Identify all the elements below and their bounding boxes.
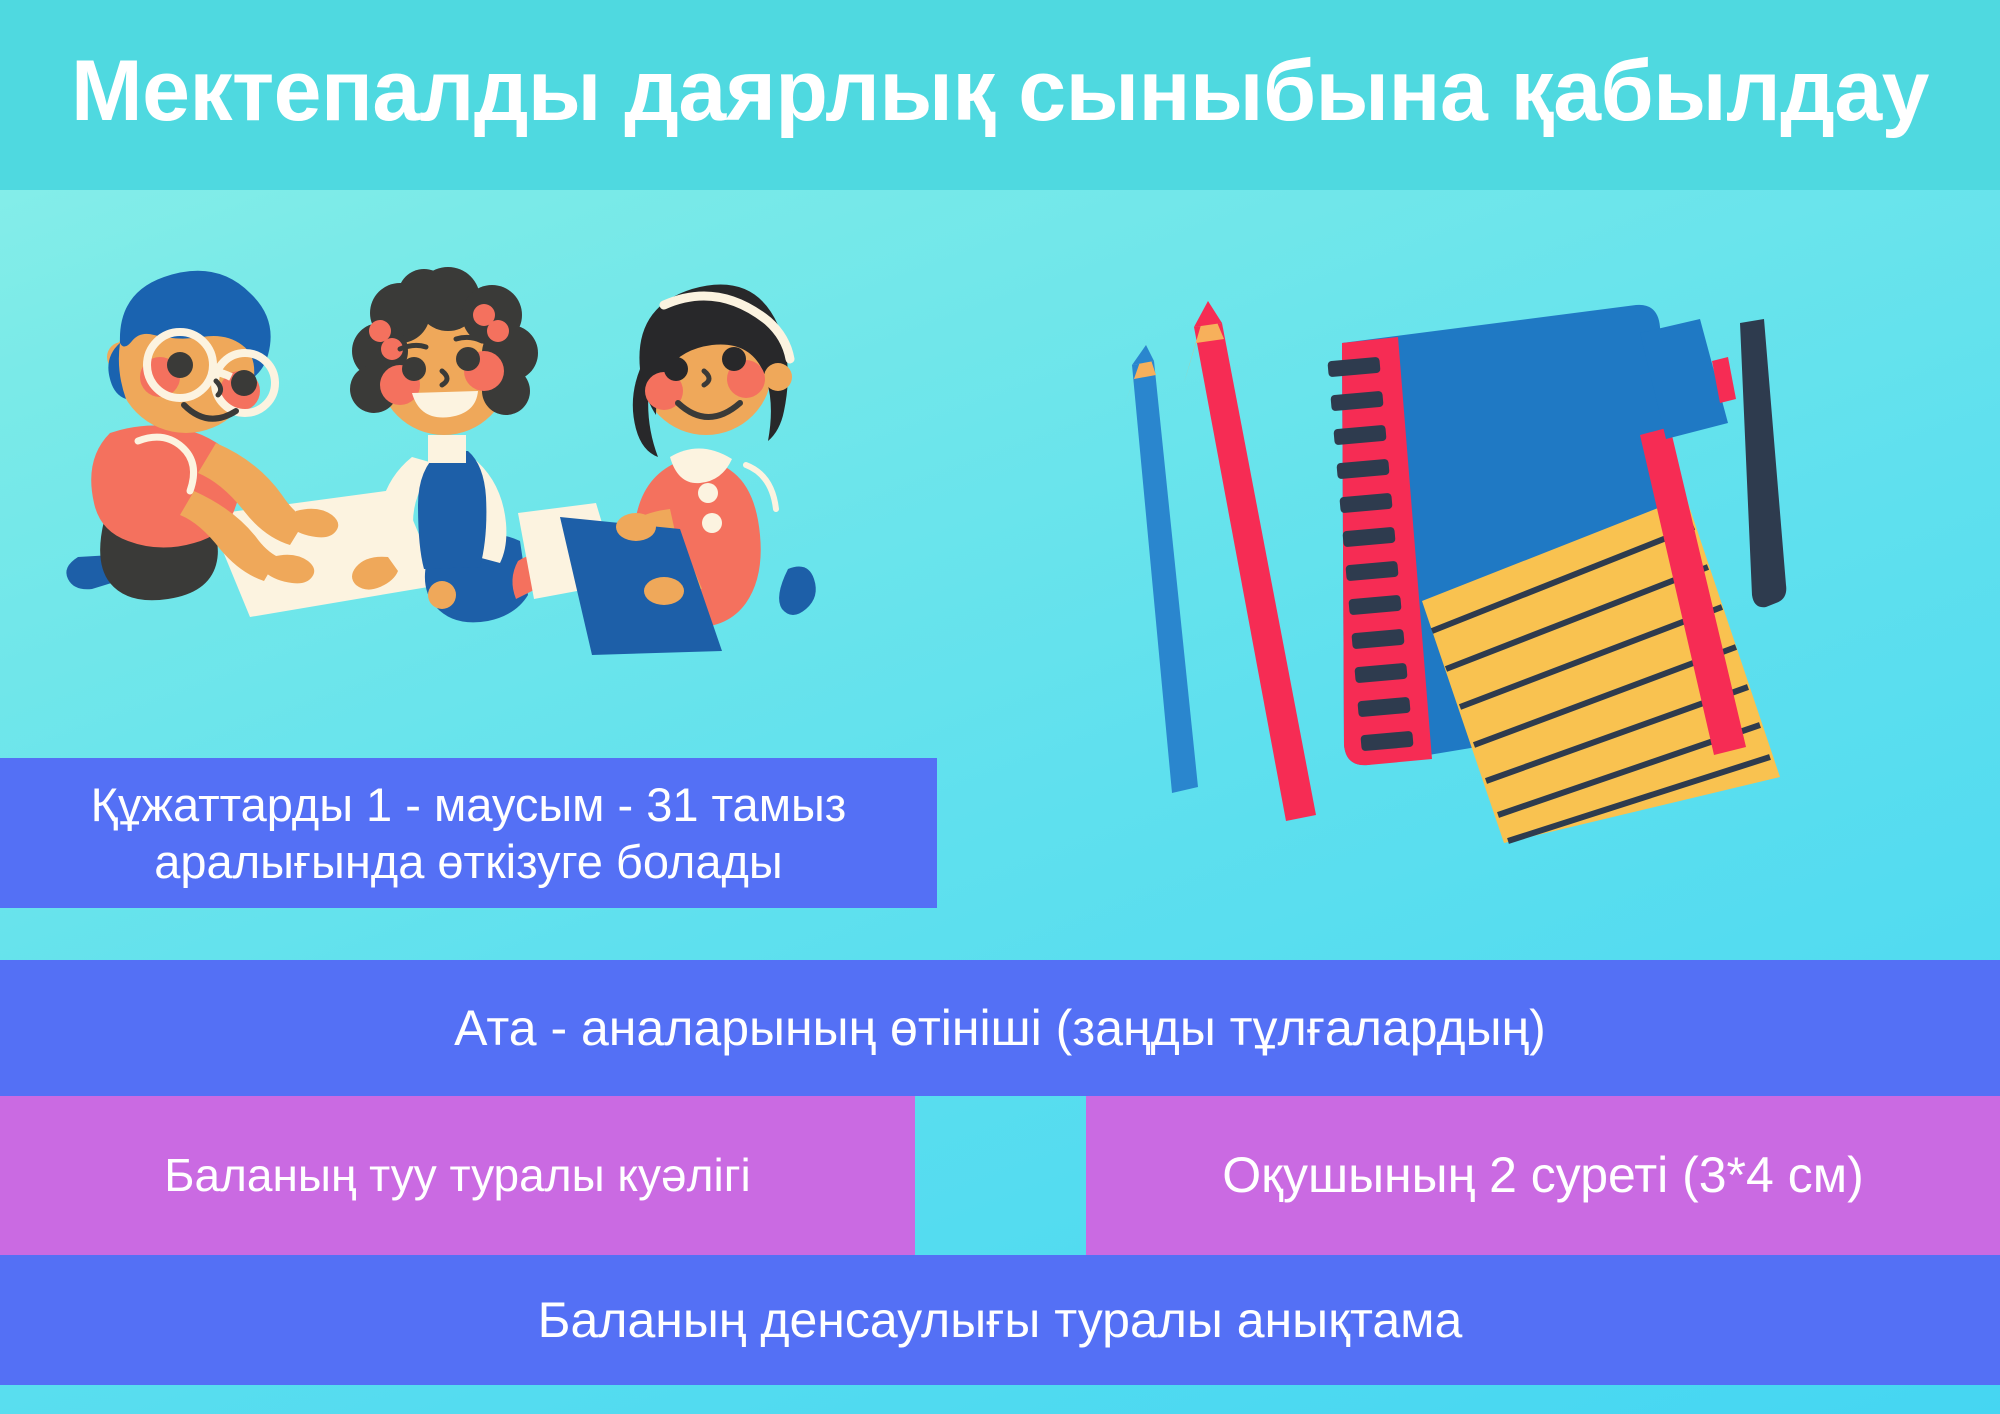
girl-button-top-icon bbox=[698, 483, 718, 503]
girl-eye-right-icon bbox=[722, 347, 746, 371]
dates-text: Құжаттарды 1 - маусым - 31 тамыз аралығы… bbox=[0, 776, 937, 891]
birth-certificate-box: Баланың туу туралы куәлігі bbox=[0, 1096, 915, 1255]
three-children-illustration bbox=[40, 265, 900, 715]
girl-button-bottom-icon bbox=[702, 513, 722, 533]
girl-hand-bottom-icon bbox=[644, 577, 684, 605]
page-title: Мектепалды даярлық сыныбына қабылдау bbox=[71, 48, 1929, 142]
photos-box: Оқушының 2 суреті (3*4 см) bbox=[1086, 1096, 2000, 1255]
infographic-poster: Мектепалды даярлық сыныбына қабылдау bbox=[0, 0, 2000, 1414]
child2-eye-right-icon bbox=[456, 347, 480, 371]
child2-neck-icon bbox=[428, 435, 466, 463]
dates-box: Құжаттарды 1 - маусым - 31 тамыз аралығы… bbox=[0, 758, 937, 908]
health-certificate-band: Баланың денсаулығы туралы анықтама bbox=[0, 1255, 2000, 1385]
girl-hand-top-icon bbox=[616, 513, 656, 541]
row-gap-spacer bbox=[915, 1096, 1086, 1255]
school-stationery-illustration bbox=[1080, 295, 1890, 855]
child2-foot-skin-icon bbox=[428, 581, 456, 609]
girl-shoe-icon bbox=[779, 567, 816, 615]
photos-text: Оқушының 2 суреті (3*4 см) bbox=[1198, 1145, 1888, 1206]
girl-eye-left-icon bbox=[664, 357, 688, 381]
boy-eye-right-icon bbox=[231, 370, 257, 396]
poster-header: Мектепалды даярлық сыныбына қабылдау bbox=[0, 0, 2000, 190]
red-pencil-icon bbox=[1184, 301, 1316, 821]
child2-overall-icon bbox=[418, 451, 486, 569]
blue-pencil-icon bbox=[1124, 345, 1198, 793]
health-certificate-text: Баланың денсаулығы туралы анықтама bbox=[538, 1290, 1463, 1351]
birth-certificate-text: Баланың туу туралы куәлігі bbox=[124, 1147, 790, 1203]
boy-eye-left-icon bbox=[167, 352, 193, 378]
child2-eye-left-icon bbox=[402, 357, 426, 381]
application-band: Ата - аналарының өтініші (заңды тұлғалар… bbox=[0, 960, 2000, 1096]
girl-ear-icon bbox=[764, 363, 792, 391]
application-text: Ата - аналарының өтініші (заңды тұлғалар… bbox=[454, 998, 1546, 1059]
documents-row: Баланың туу туралы куәлігі Оқушының 2 су… bbox=[0, 1096, 2000, 1255]
